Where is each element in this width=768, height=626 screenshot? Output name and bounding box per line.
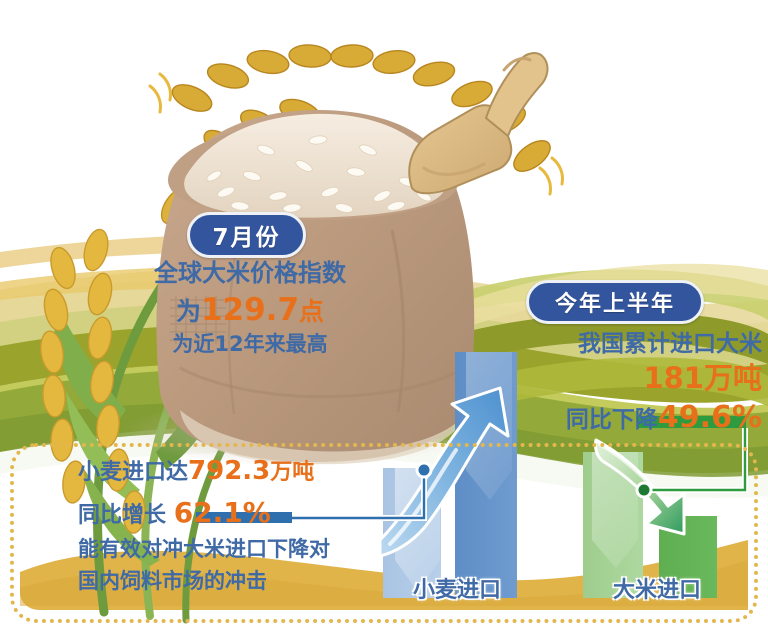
wheat-import-prefix: 小麦进口达 (78, 460, 188, 485)
badge-month[interactable]: 7月份 (187, 212, 306, 258)
rice-change-prefix: 同比下降 (566, 407, 658, 433)
rice-index-value: 129.7 (201, 292, 299, 328)
badge-half-year[interactable]: 今年上半年 (526, 280, 704, 324)
wheat-import-value: 792.3 (188, 456, 270, 486)
infographic-canvas: 7月份 今年上半年 全球大米价格指数 为129.7点 为近12年来最高 我国累计… (0, 0, 768, 626)
wheat-text-block: 小麦进口达792.3万吨 同比增长 62.1% 能有效对冲大米进口下降对 国内饲… (78, 452, 398, 598)
wheat-import-line1: 小麦进口达792.3万吨 (78, 452, 398, 492)
rice-import-text-block: 我国累计进口大米 181万吨 同比下降49.6% (506, 330, 762, 437)
rice-index-line1: 全球大米价格指数 (118, 258, 382, 290)
rice-index-prefix: 为 (176, 297, 201, 326)
rice-import-unit: 万吨 (704, 361, 762, 395)
rice-index-suffix: 点 (299, 297, 324, 326)
wheat-growth-prefix: 同比增长 (78, 503, 166, 528)
rice-import-line3: 同比下降49.6% (506, 398, 762, 437)
rice-index-line2: 为129.7点 (118, 290, 382, 331)
rice-index-line3: 为近12年来最高 (118, 331, 382, 359)
wheat-growth-line: 同比增长 62.1% (78, 492, 398, 535)
rice-import-line2: 181万吨 (506, 360, 762, 398)
wheat-import-unit: 万吨 (270, 460, 314, 485)
rice-price-text-block: 全球大米价格指数 为129.7点 为近12年来最高 (118, 258, 382, 358)
bar-label-wheat: 小麦进口 (413, 572, 501, 604)
wheat-growth-value: 62.1% (174, 496, 271, 529)
wheat-note-line1: 能有效对冲大米进口下降对 (78, 534, 398, 566)
rice-import-value: 181 (643, 361, 704, 395)
rice-import-line1: 我国累计进口大米 (506, 330, 762, 360)
bar-label-rice: 大米进口 (613, 572, 701, 604)
wheat-note-line2: 国内饲料市场的冲击 (78, 566, 398, 598)
rice-change-value: 49.6% (658, 400, 762, 435)
